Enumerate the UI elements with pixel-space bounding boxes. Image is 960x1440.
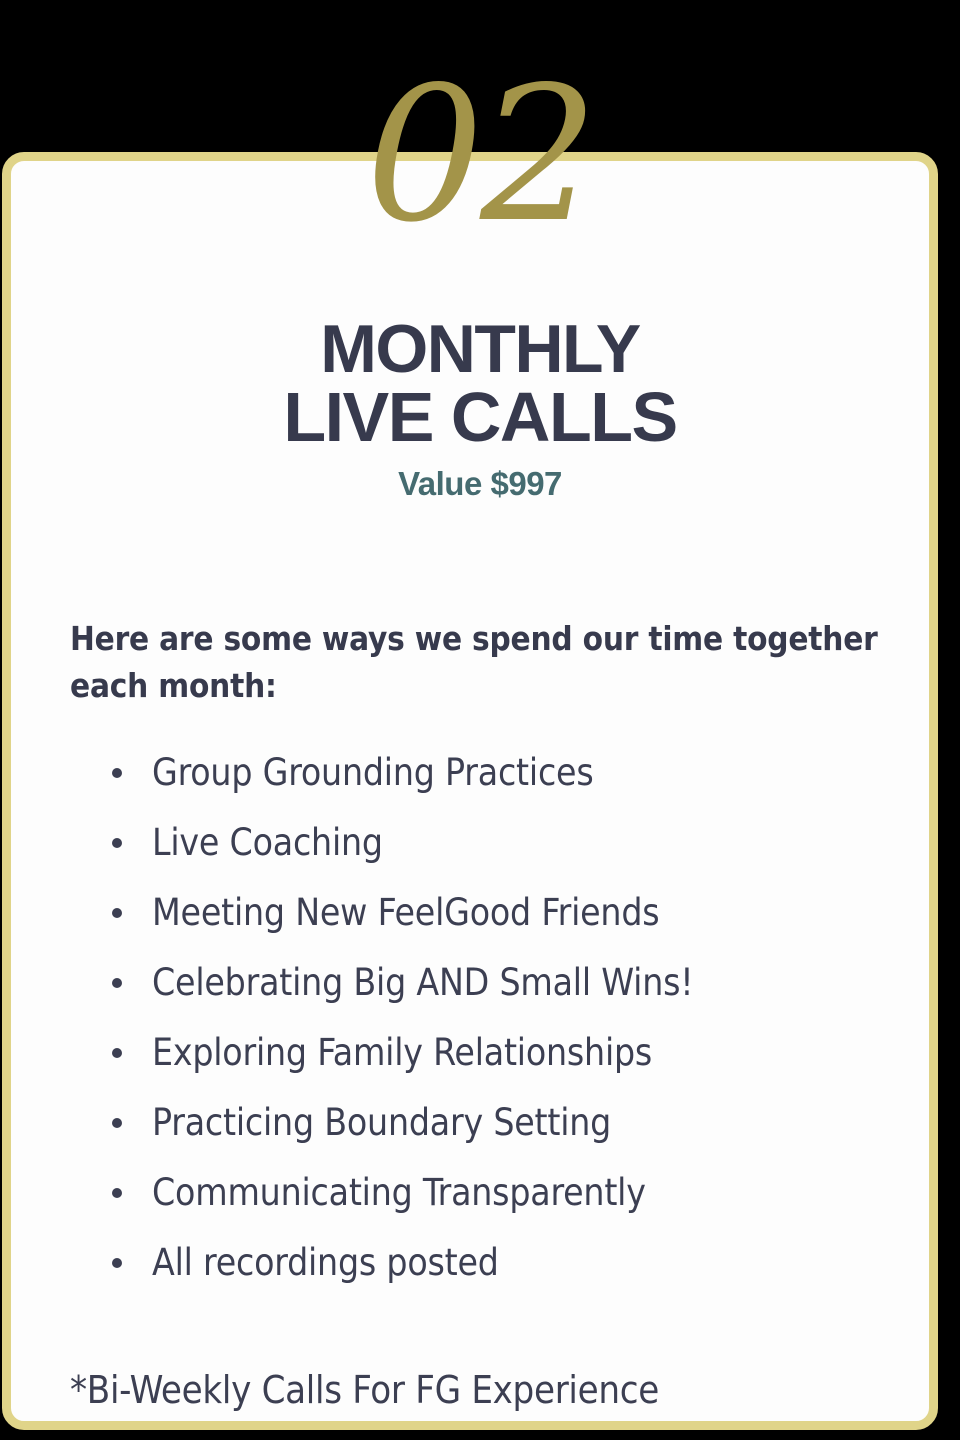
list-item-label: Communicating Transparently: [152, 1171, 646, 1214]
bullet-dot-icon: [112, 1188, 122, 1198]
intro-text: Here are some ways we spend our time tog…: [70, 616, 900, 710]
bullet-dot-icon: [112, 1048, 122, 1058]
value-badge: Value $997: [0, 465, 960, 503]
list-item-label: All recordings posted: [152, 1241, 499, 1284]
list-item: Practicing Boundary Setting: [110, 1088, 920, 1158]
list-item-label: Celebrating Big AND Small Wins!: [152, 961, 693, 1004]
list-item-label: Exploring Family Relationships: [152, 1031, 652, 1074]
list-item: Group Grounding Practices: [110, 738, 920, 808]
bullet-dot-icon: [112, 768, 122, 778]
bullet-dot-icon: [112, 908, 122, 918]
list-item: Exploring Family Relationships: [110, 1018, 920, 1088]
list-item-label: Practicing Boundary Setting: [152, 1101, 611, 1144]
offer-card-page: 02 MONTHLY LIVE CALLS Value $997 Here ar…: [0, 0, 960, 1440]
list-item: Celebrating Big AND Small Wins!: [110, 948, 920, 1018]
bullet-dot-icon: [112, 1258, 122, 1268]
bullet-dot-icon: [112, 838, 122, 848]
page-title-line-2: LIVE CALLS: [0, 383, 960, 452]
list-item: All recordings posted: [110, 1228, 920, 1298]
list-item: Communicating Transparently: [110, 1158, 920, 1228]
footnote-text: *Bi-Weekly Calls For FG Experience: [70, 1368, 910, 1412]
title-block: MONTHLY LIVE CALLS Value $997: [0, 316, 960, 503]
list-item: Live Coaching: [110, 808, 920, 878]
list-item-label: Meeting New FeelGood Friends: [152, 891, 659, 934]
page-title-line-1: MONTHLY: [0, 316, 960, 383]
benefits-list: Group Grounding Practices Live Coaching …: [110, 738, 920, 1298]
list-item: Meeting New FeelGood Friends: [110, 878, 920, 948]
bullet-dot-icon: [112, 978, 122, 988]
list-item-label: Group Grounding Practices: [152, 751, 593, 794]
list-item-label: Live Coaching: [152, 821, 383, 864]
step-number-badge: 02: [0, 62, 960, 248]
bullet-dot-icon: [112, 1118, 122, 1128]
